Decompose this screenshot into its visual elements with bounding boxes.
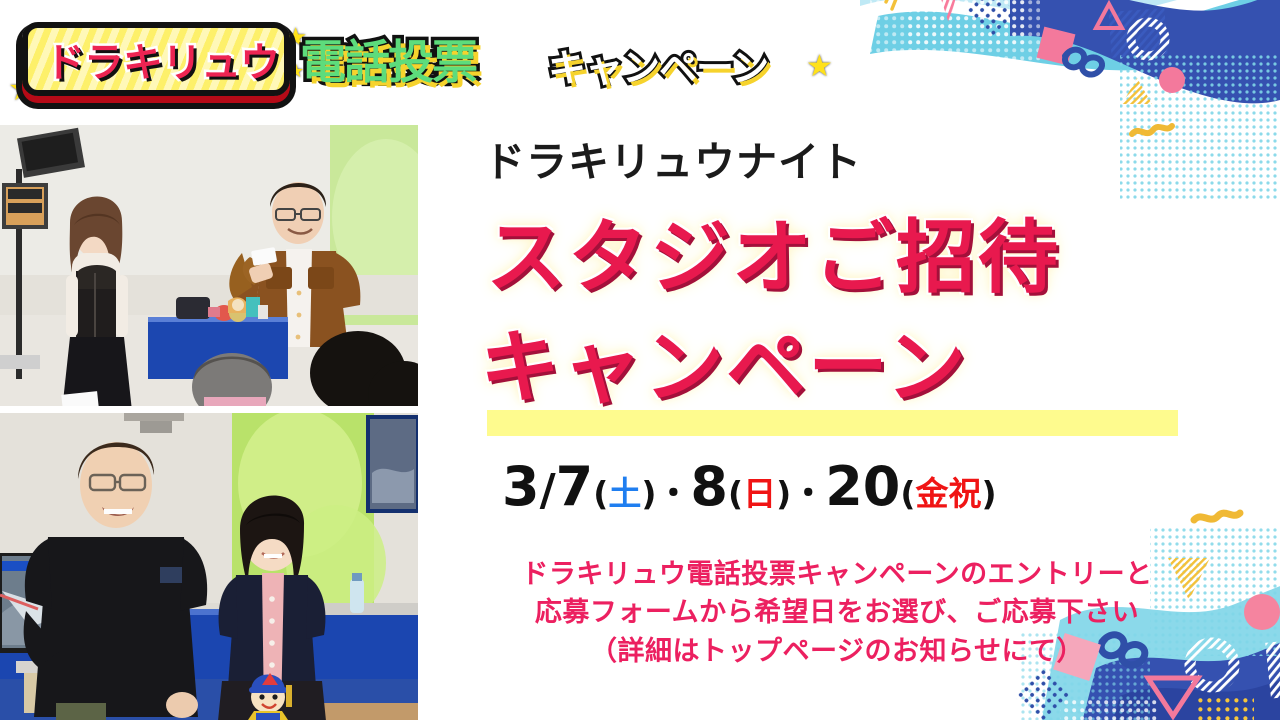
date-day-1: 7 [556, 455, 594, 518]
star-icon: ★ [806, 52, 833, 82]
paren-open-3: ( [900, 474, 915, 513]
weekday-sunday: 日 [743, 474, 776, 513]
weekday-holiday: 金祝 [915, 474, 981, 513]
promo-banner: ★ ★ ★ ★ ドラキリュウ 電話投票 キャンペーン [0, 0, 1280, 720]
logo-badge-text: ドラキリュウ [28, 28, 296, 90]
headline-line-1: スタジオご招待 [486, 193, 1060, 309]
instruction-line-2: 応募フォームから希望日をお選び、ご応募下さい [487, 594, 1187, 632]
highlight-bar [487, 410, 1178, 436]
date-separator-2: ・ [791, 474, 825, 514]
instruction-line-1: ドラキリュウ電話投票キャンペーンのエントリーと [487, 556, 1187, 594]
kicker-text: ドラキリュウナイト [484, 128, 862, 188]
date-day-2: 8 [690, 455, 728, 518]
paren-close-2: ) [776, 474, 791, 513]
event-dates: 3/7(土)・8(日)・20(金祝) [502, 455, 997, 518]
instruction-line-3: （詳細はトップページのお知らせにて） [487, 633, 1187, 671]
studio-photo-bottom [0, 413, 418, 720]
logo-white-text: キャンペーン [548, 37, 768, 92]
date-day-3: 20 [825, 455, 900, 518]
paren-open-1: ( [593, 474, 608, 513]
logo-green-text: 電話投票 [300, 26, 476, 92]
weekday-saturday: 土 [608, 474, 641, 513]
headline-line-2: キャンペーン [480, 303, 968, 419]
paren-close-1: ) [641, 474, 656, 513]
paren-open-2: ( [728, 474, 743, 513]
paren-close-3: ) [981, 474, 996, 513]
date-separator-1: ・ [656, 474, 690, 514]
date-slash: / [540, 465, 556, 516]
studio-photo-top [0, 125, 418, 406]
entry-instructions: ドラキリュウ電話投票キャンペーンのエントリーと 応募フォームから希望日をお選び、… [487, 556, 1187, 671]
logo-badge-plate: ドラキリュウ [22, 22, 290, 96]
campaign-logo: ★ ★ ★ ★ ドラキリュウ 電話投票 キャンペーン [0, 0, 860, 118]
date-month: 3 [502, 455, 540, 518]
